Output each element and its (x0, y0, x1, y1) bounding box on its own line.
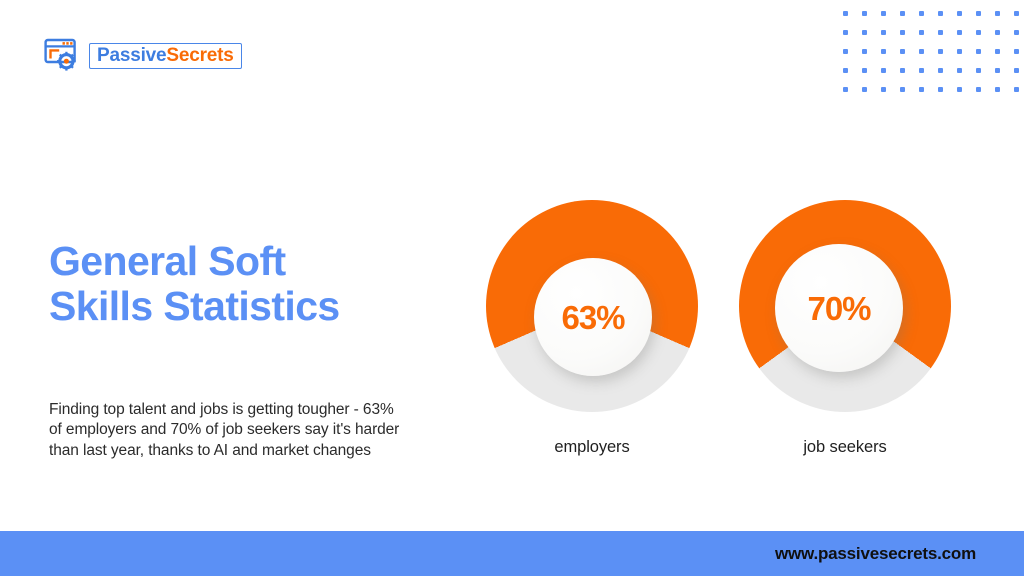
dot (919, 11, 924, 16)
dot (1014, 68, 1019, 73)
dot (995, 30, 1000, 35)
dot (1014, 30, 1019, 35)
donut-center-job-seekers: 70% (775, 244, 903, 372)
dot (976, 87, 981, 92)
dot (995, 68, 1000, 73)
dot (1014, 49, 1019, 54)
dot (995, 11, 1000, 16)
dot (900, 49, 905, 54)
dot (881, 11, 886, 16)
footer-bar: www.passivesecrets.com (0, 531, 1024, 576)
dot (957, 11, 962, 16)
page-title: General Soft Skills Statistics (49, 239, 469, 328)
dot (957, 87, 962, 92)
dot (900, 87, 905, 92)
dot (976, 49, 981, 54)
dot (995, 87, 1000, 92)
dot (862, 11, 867, 16)
browser-window-gear-icon (44, 38, 82, 74)
donut-label-employers: employers (477, 438, 707, 457)
dot (900, 30, 905, 35)
dot (881, 87, 886, 92)
dot (919, 87, 924, 92)
dot (957, 30, 962, 35)
brand-wordmark: PassiveSecrets (89, 43, 242, 69)
dot (938, 30, 943, 35)
donut-chart-group: 63% employers 70% job seekers (470, 200, 990, 475)
donut-chart-employers: 63% employers (477, 200, 707, 475)
dot (995, 49, 1000, 54)
brand-name-first: Passive (97, 45, 166, 66)
dot (957, 68, 962, 73)
infographic-canvas: PassiveSecrets General Soft Skills Stati… (0, 0, 1024, 576)
dot (843, 49, 848, 54)
dot (862, 30, 867, 35)
dot (843, 11, 848, 16)
brand-logo[interactable]: PassiveSecrets (44, 38, 242, 74)
donut-label-job-seekers: job seekers (730, 438, 960, 457)
dot (900, 11, 905, 16)
dot (919, 49, 924, 54)
dot (881, 49, 886, 54)
body-paragraph: Finding top talent and jobs is getting t… (49, 400, 409, 462)
dot (881, 30, 886, 35)
dot (881, 68, 886, 73)
dot (843, 68, 848, 73)
footer-website-url[interactable]: www.passivesecrets.com (775, 544, 976, 564)
donut-job-seekers: 70% (739, 200, 951, 412)
dot (938, 11, 943, 16)
dot (919, 30, 924, 35)
donut-value-employers: 63% (561, 301, 624, 334)
page-title-line-1: General Soft (49, 239, 469, 283)
dot (938, 68, 943, 73)
donut-chart-job-seekers: 70% job seekers (730, 200, 960, 475)
dot (938, 87, 943, 92)
dot-grid-decoration (843, 11, 1024, 106)
dot (976, 30, 981, 35)
dot (919, 68, 924, 73)
donut-employers: 63% (486, 200, 698, 412)
dot (862, 49, 867, 54)
donut-center-employers: 63% (534, 258, 652, 376)
dot (1014, 11, 1019, 16)
dot (1014, 87, 1019, 92)
dot (938, 49, 943, 54)
dot (957, 49, 962, 54)
dot (862, 87, 867, 92)
dot (976, 11, 981, 16)
dot (976, 68, 981, 73)
dot (900, 68, 905, 73)
dot (843, 87, 848, 92)
brand-name-second: Secrets (166, 45, 233, 66)
page-title-line-2: Skills Statistics (49, 284, 469, 328)
donut-value-job-seekers: 70% (807, 292, 870, 325)
dot (862, 68, 867, 73)
dot (843, 30, 848, 35)
